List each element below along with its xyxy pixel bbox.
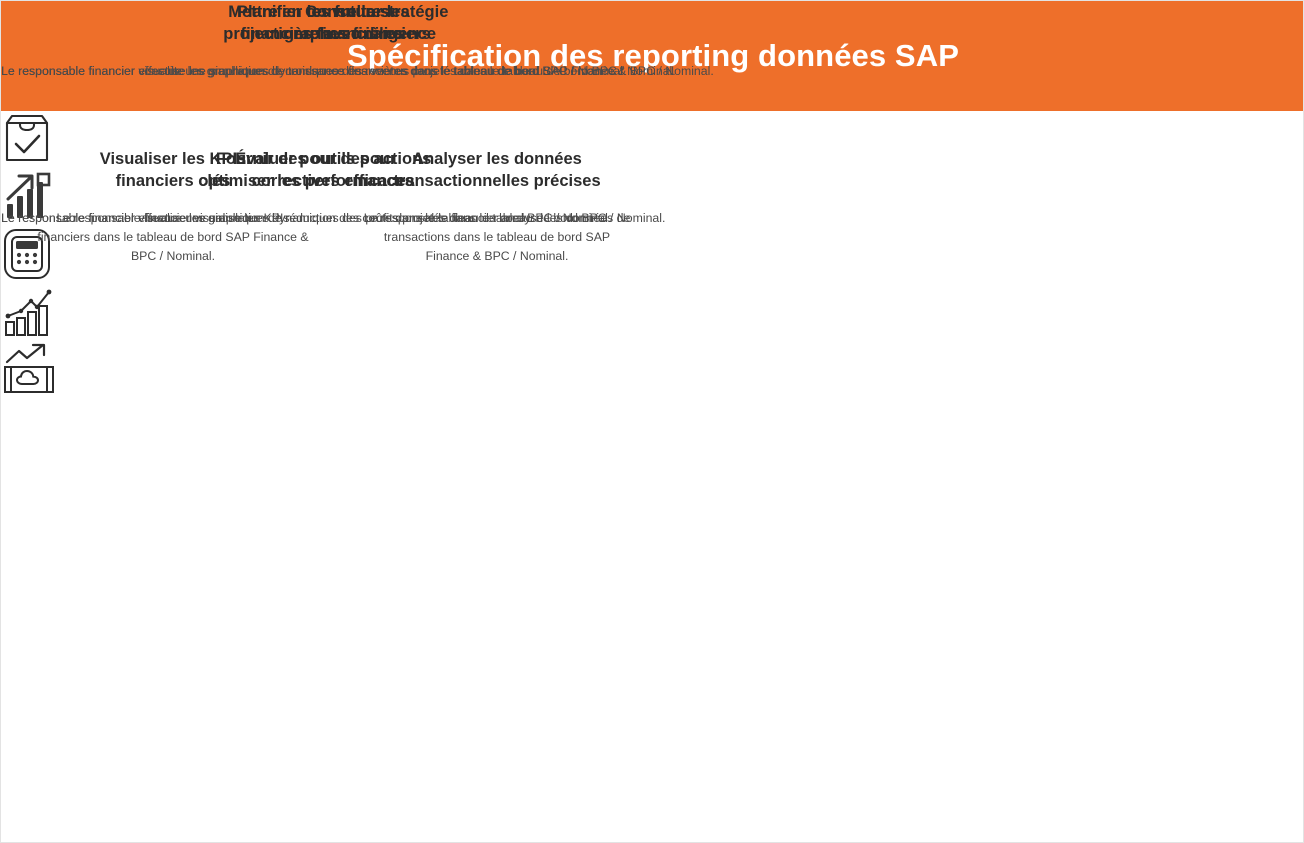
bottom-block-3-description: Le responsable financier visualise les g… <box>1 62 676 81</box>
top-block-4-title: Évaluer pour des actions correctives eff… <box>1 148 665 193</box>
process-node-6[interactable] <box>1 286 1303 343</box>
top-block-4-description: Le responsable financier visualise les g… <box>1 209 665 228</box>
node-7-icon-area <box>1 343 1303 402</box>
process-node-7[interactable] <box>1 343 1303 402</box>
calculator-icon <box>1 268 53 285</box>
banknote-cloud-icon <box>1 384 57 401</box>
bottom-block-3: Mettre en œuvre la stratégie financière … <box>1 1 676 81</box>
bottom-block-3-title: Mettre en œuvre la stratégie financière … <box>1 1 676 46</box>
bar-line-chart-icon <box>1 325 57 342</box>
infographic-page: Spécification des reporting données SAP … <box>0 0 1304 843</box>
top-block-4: Évaluer pour des actions correctives eff… <box>1 148 665 228</box>
node-6-icon-area <box>1 286 1303 343</box>
